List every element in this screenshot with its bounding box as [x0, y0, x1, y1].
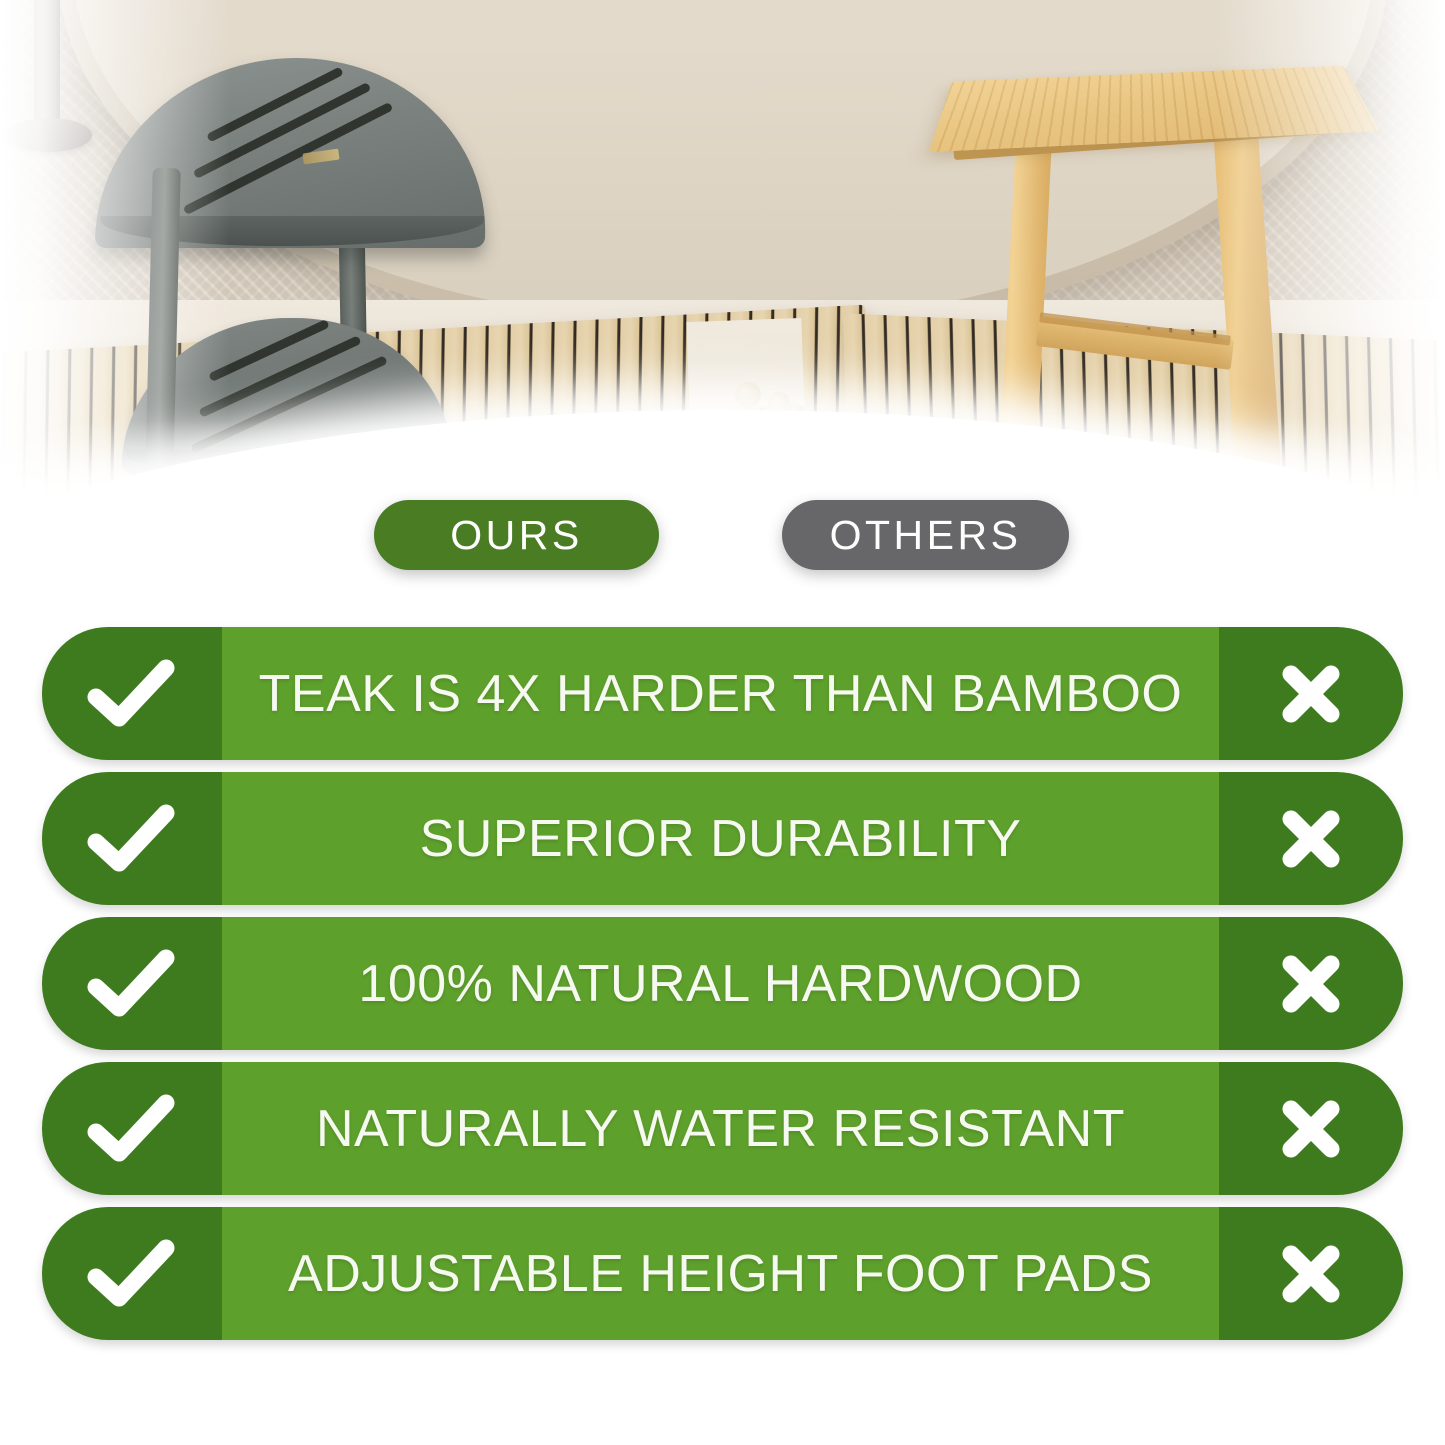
- feature-label-cell: 100% NATURAL HARDWOOD: [222, 917, 1219, 1050]
- others-cell: [1219, 1207, 1403, 1340]
- badge-ours-label: OURS: [450, 512, 582, 559]
- badge-others-label: OTHERS: [830, 512, 1022, 559]
- check-icon: [86, 801, 178, 877]
- bamboo-leg-left: [994, 133, 1058, 454]
- badge-ours: OURS: [374, 500, 659, 570]
- ours-cell: [42, 1062, 222, 1195]
- feature-row: ADJUSTABLE HEIGHT FOOT PADS: [42, 1207, 1403, 1340]
- cross-icon: [1277, 950, 1345, 1018]
- feature-label: 100% NATURAL HARDWOOD: [358, 954, 1082, 1014]
- check-icon: [86, 656, 178, 732]
- check-icon: [86, 946, 178, 1022]
- cross-icon: [1277, 1095, 1345, 1163]
- cross-icon: [1277, 1240, 1345, 1308]
- feature-label-cell: SUPERIOR DURABILITY: [222, 772, 1219, 905]
- cross-icon: [1277, 805, 1345, 873]
- feature-label-cell: TEAK IS 4X HARDER THAN BAMBOO: [222, 627, 1219, 760]
- feature-label: NATURALLY WATER RESISTANT: [316, 1099, 1125, 1159]
- ours-cell: [42, 627, 222, 760]
- ours-cell: [42, 917, 222, 1050]
- feature-label-cell: NATURALLY WATER RESISTANT: [222, 1062, 1219, 1195]
- feature-label: ADJUSTABLE HEIGHT FOOT PADS: [288, 1244, 1153, 1304]
- others-cell: [1219, 1062, 1403, 1195]
- feature-row: NATURALLY WATER RESISTANT: [42, 1062, 1403, 1195]
- feature-label: SUPERIOR DURABILITY: [420, 809, 1022, 869]
- ours-cell: [42, 772, 222, 905]
- others-cell: [1219, 772, 1403, 905]
- cross-icon: [1277, 660, 1345, 728]
- feature-row: TEAK IS 4X HARDER THAN BAMBOO: [42, 627, 1403, 760]
- feature-comparison-list: TEAK IS 4X HARDER THAN BAMBOO SUPERIOR D…: [0, 627, 1445, 1352]
- mat-rope-bead: [735, 382, 761, 408]
- column-badges: OURS OTHERS: [0, 500, 1445, 572]
- feature-label: TEAK IS 4X HARDER THAN BAMBOO: [259, 664, 1183, 724]
- check-icon: [86, 1236, 178, 1312]
- feature-row: SUPERIOR DURABILITY: [42, 772, 1403, 905]
- ours-cell: [42, 1207, 222, 1340]
- others-cell: [1219, 627, 1403, 760]
- badge-others: OTHERS: [782, 500, 1069, 570]
- feature-row: 100% NATURAL HARDWOOD: [42, 917, 1403, 1050]
- feature-label-cell: ADJUSTABLE HEIGHT FOOT PADS: [222, 1207, 1219, 1340]
- others-cell: [1219, 917, 1403, 1050]
- check-icon: [86, 1091, 178, 1167]
